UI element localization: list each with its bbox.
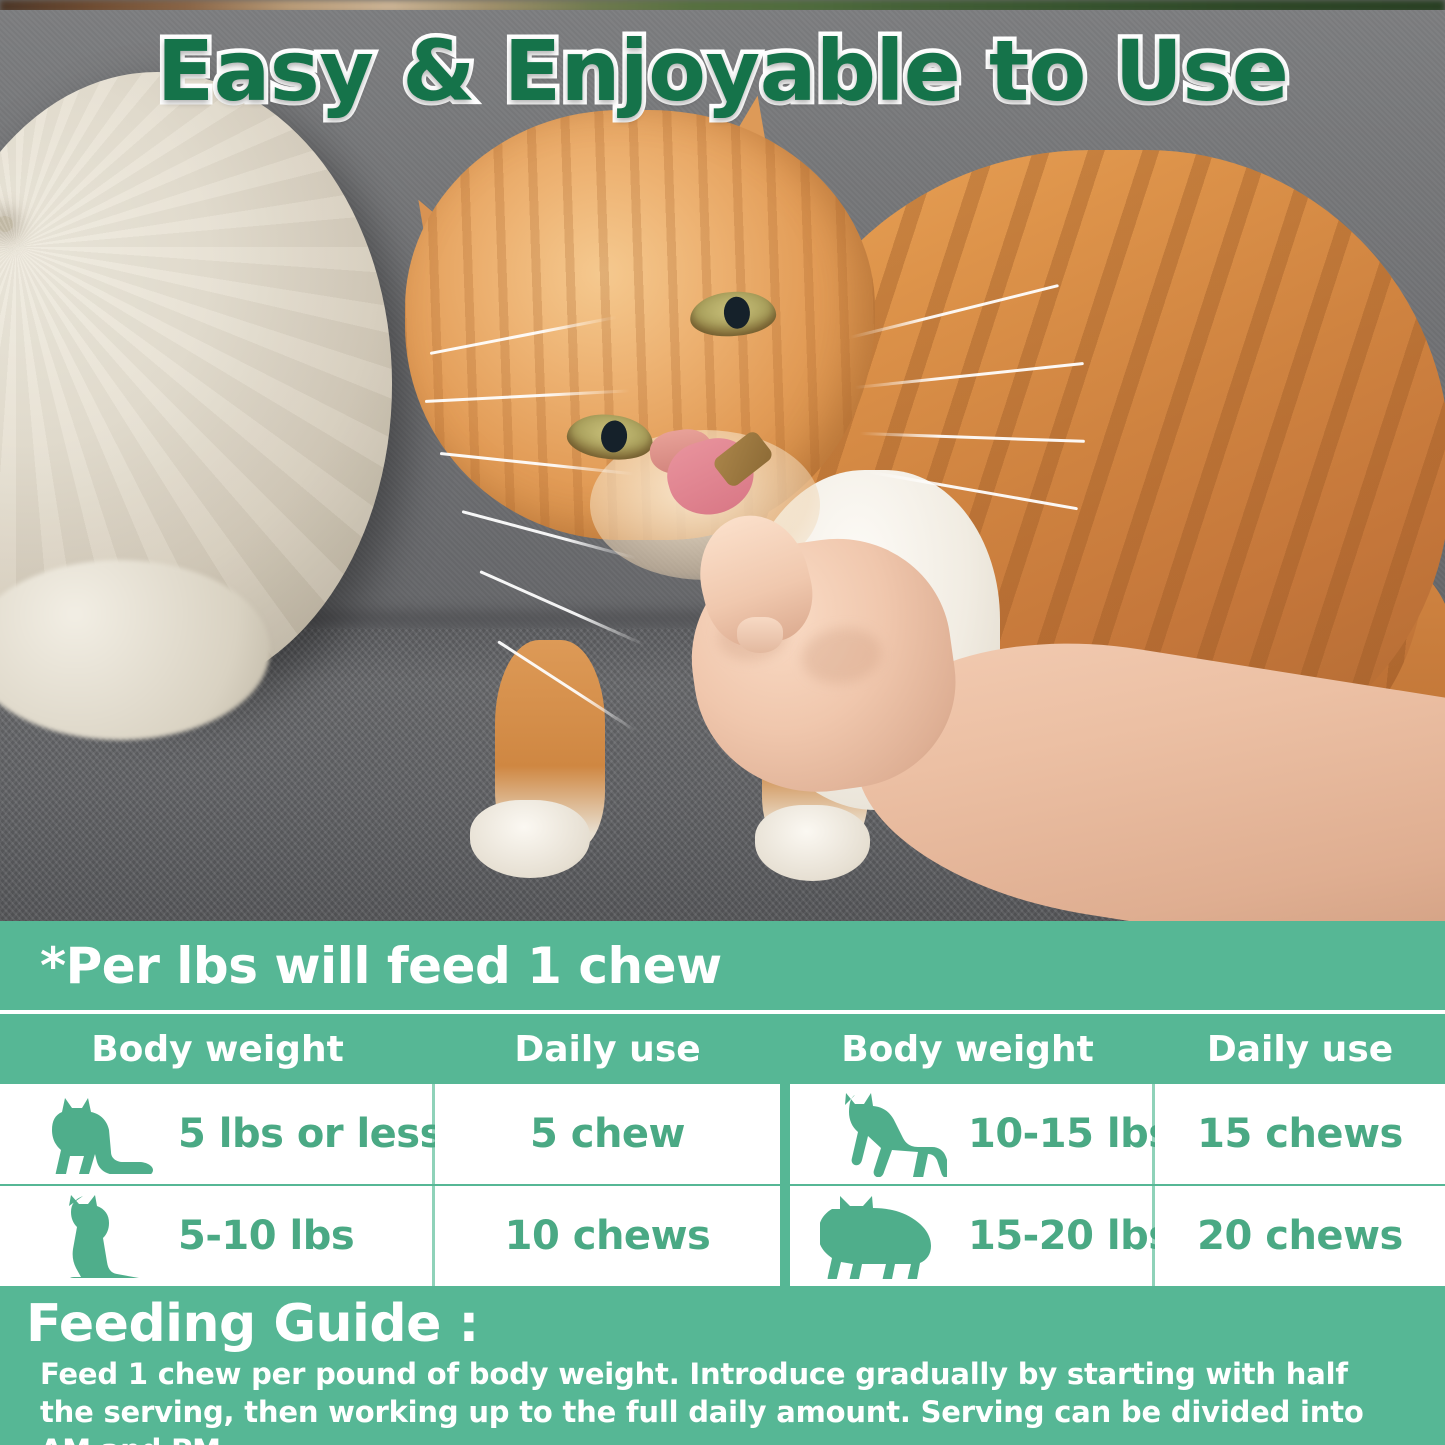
cat-large-fluffy-icon — [820, 1194, 950, 1278]
table-row: 5 lbs or less 5 chew 10-15 lbs 15 chews — [0, 1084, 1445, 1184]
human-hand — [655, 505, 1445, 921]
cell-daily-use: 15 chews — [1155, 1084, 1445, 1184]
column-header-daily-use-2: Daily use — [1155, 1029, 1445, 1070]
daily-use-value: 5 chew — [530, 1111, 685, 1157]
daily-use-value: 15 chews — [1197, 1111, 1403, 1157]
column-header-daily-use-1: Daily use — [435, 1029, 780, 1070]
body-weight-value: 5 lbs or less — [178, 1111, 443, 1157]
cat-standing-icon — [30, 1092, 160, 1176]
column-group-gap — [780, 1186, 790, 1286]
body-weight-value: 5-10 lbs — [178, 1213, 354, 1259]
cell-daily-use: 20 chews — [1155, 1186, 1445, 1286]
daily-use-value: 10 chews — [505, 1213, 711, 1259]
cat-walking-icon — [820, 1092, 950, 1176]
cell-daily-use: 5 chew — [435, 1084, 780, 1184]
table-header-row: Body weight Daily use Body weight Daily … — [0, 1014, 1445, 1084]
feeding-table: Body weight Daily use Body weight Daily … — [0, 1014, 1445, 1290]
table-body: 5 lbs or less 5 chew 10-15 lbs 15 chews — [0, 1084, 1445, 1286]
fingernail — [737, 617, 783, 653]
cat-whisker — [479, 570, 645, 646]
daily-use-value: 20 chews — [1197, 1213, 1403, 1259]
cat-pupil-left — [600, 419, 629, 454]
feeding-guide-title: Feeding Guide : — [26, 1296, 1411, 1352]
infographic-page: Easy & Enjoyable to Use *Per lbs will fe… — [0, 0, 1445, 1445]
feeding-guide-body: Feed 1 chew per pound of body weight. In… — [26, 1352, 1411, 1445]
product-photo: Easy & Enjoyable to Use — [0, 0, 1445, 921]
banner-note: *Per lbs will feed 1 chew — [0, 937, 722, 995]
body-weight-value: 10-15 lbs — [968, 1111, 1172, 1157]
cat-photo-subject — [0, 0, 1445, 921]
body-weight-value: 15-20 lbs — [968, 1213, 1172, 1259]
cell-body-weight: 5-10 lbs — [0, 1186, 435, 1286]
cat-pupil-right — [723, 296, 751, 330]
cell-body-weight: 15-20 lbs — [790, 1186, 1155, 1286]
table-row: 5-10 lbs 10 chews 15-20 lbs 20 chews — [0, 1186, 1445, 1286]
page-title: Easy & Enjoyable to Use — [0, 22, 1445, 120]
cell-body-weight: 10-15 lbs — [790, 1084, 1155, 1184]
cat-paw-left — [470, 800, 590, 878]
per-lbs-banner: *Per lbs will feed 1 chew — [0, 921, 1445, 1010]
column-header-body-weight-2: Body weight — [780, 1029, 1155, 1070]
cell-body-weight: 5 lbs or less — [0, 1084, 435, 1184]
column-header-body-weight-1: Body weight — [0, 1029, 435, 1070]
cat-sitting-icon — [30, 1194, 160, 1278]
column-group-gap — [780, 1084, 790, 1184]
knuckle-shadow — [798, 623, 885, 689]
cell-daily-use: 10 chews — [435, 1186, 780, 1286]
feeding-guide-section: Feeding Guide : Feed 1 chew per pound of… — [0, 1290, 1445, 1445]
